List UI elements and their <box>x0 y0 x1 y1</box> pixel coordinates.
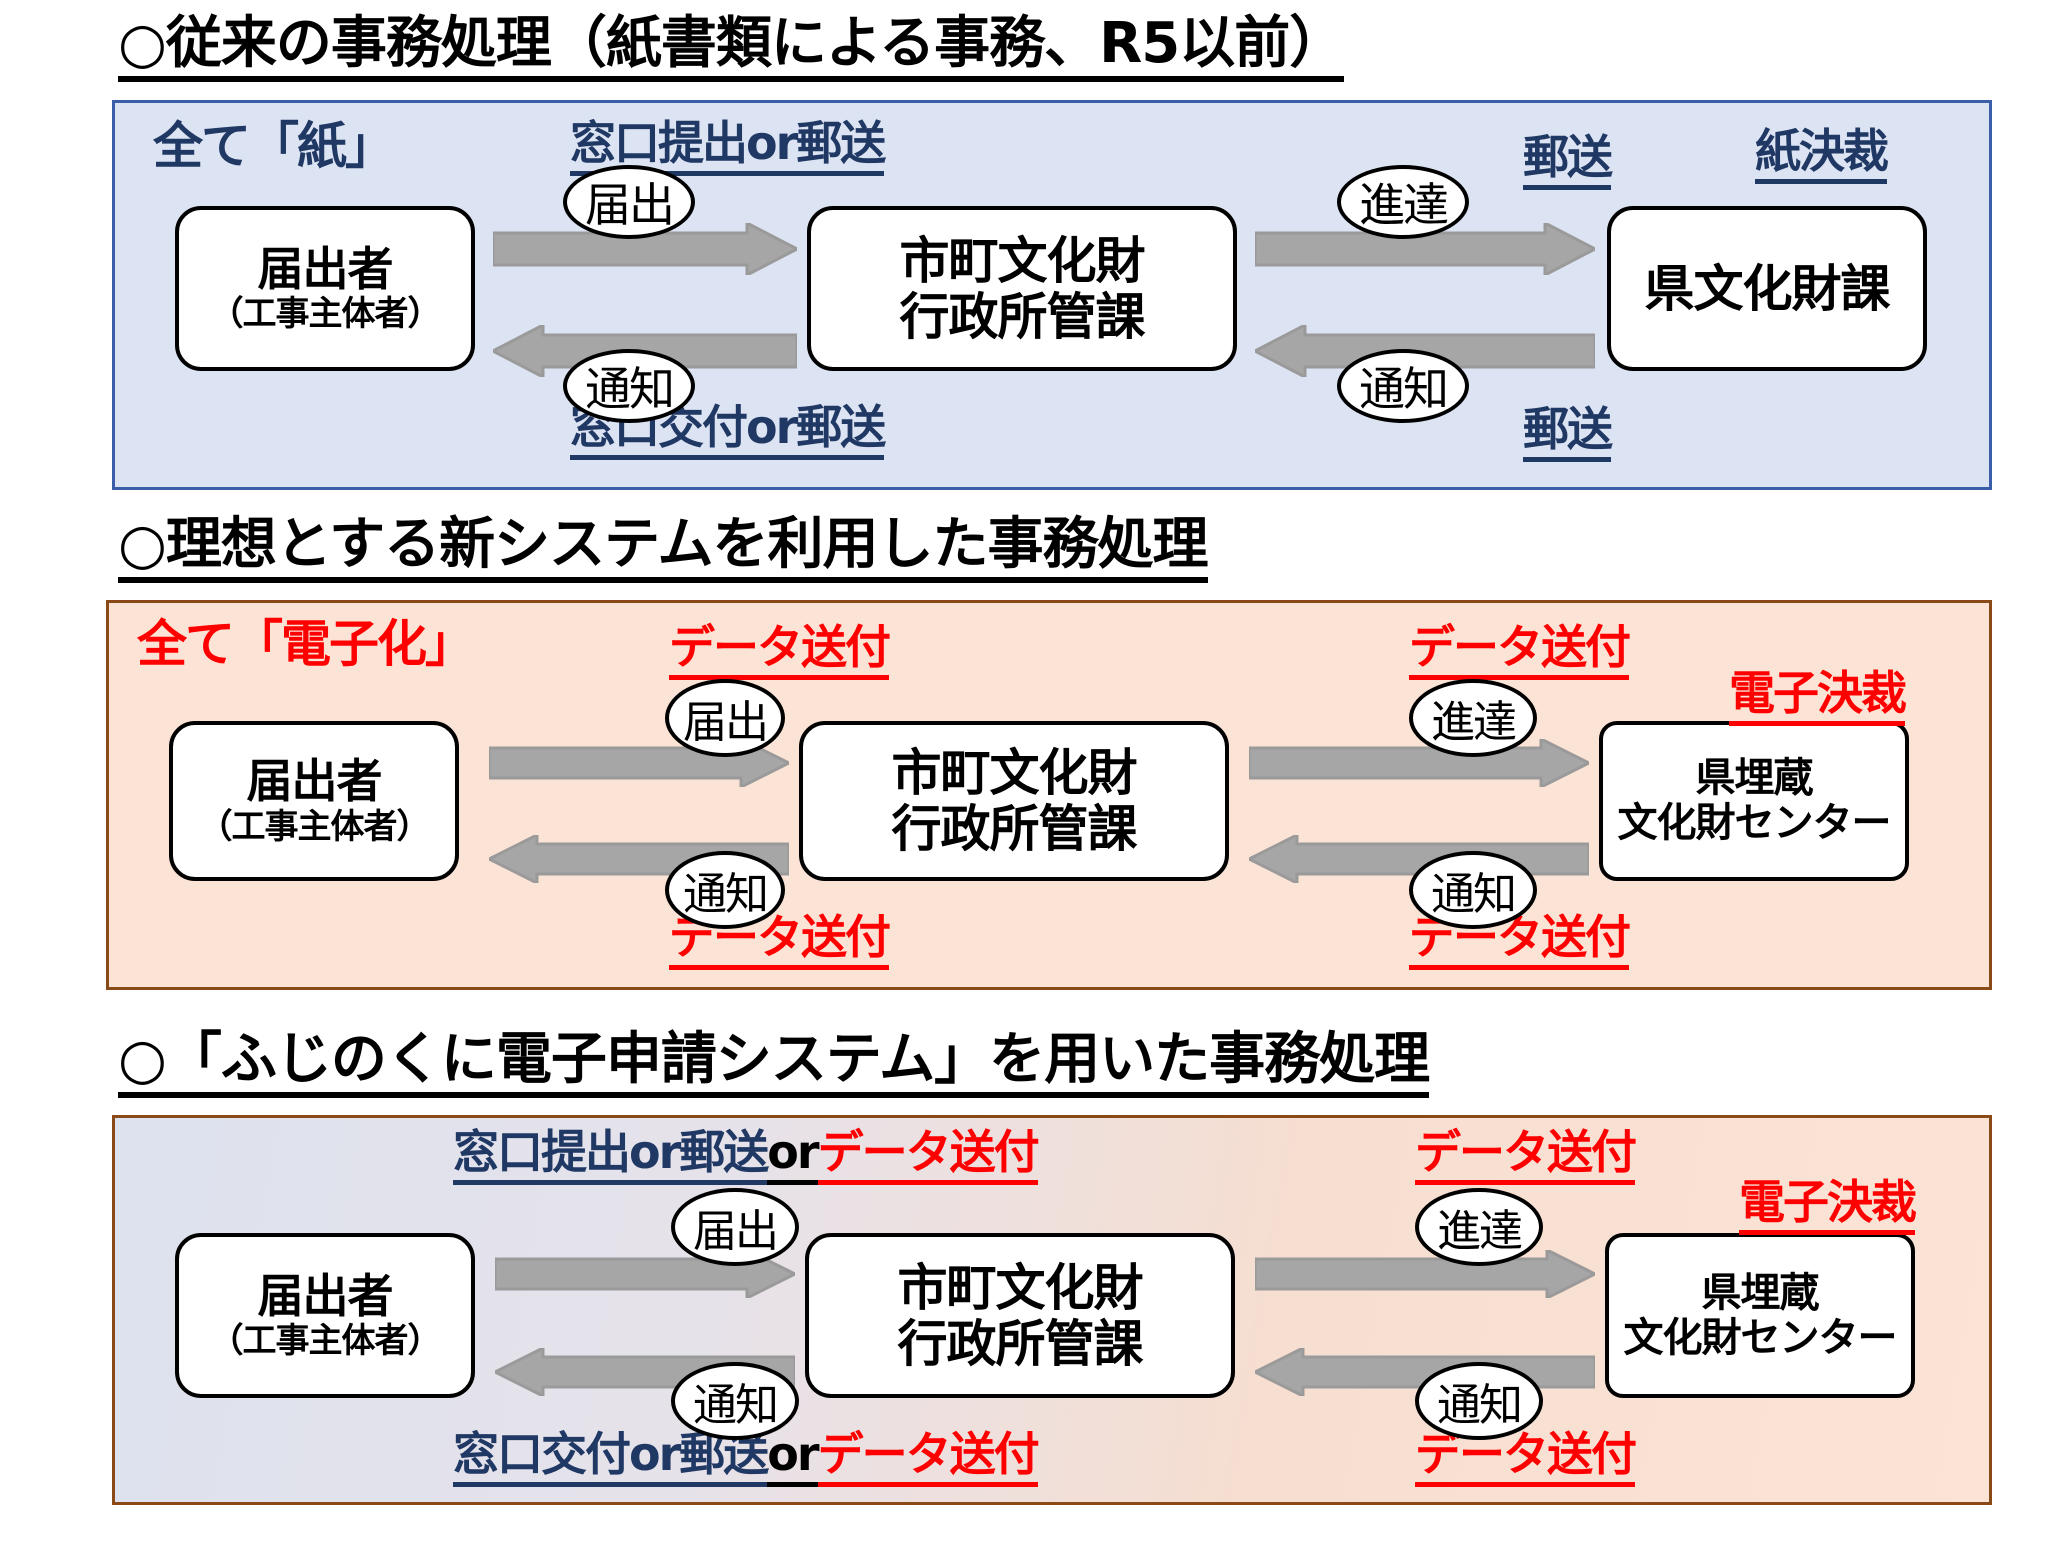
entity-main-label: 届出者 <box>247 756 382 808</box>
entity-sub-label: 行政所管課 <box>898 1316 1143 1372</box>
entity-sub-label: 行政所管課 <box>900 289 1145 345</box>
entity-main-label: 市町文化財 <box>898 1260 1143 1316</box>
entity-box-pref-legacy: 県文化財課 <box>1607 206 1927 371</box>
oval-text: 通知 <box>1359 353 1447 419</box>
oval-label-tsuchi2-fujinokuni: 通知 <box>1415 1362 1543 1440</box>
entity-box-city-legacy: 市町文化財 行政所管課 <box>807 206 1237 371</box>
oval-label-tsuchi-fujinokuni: 通知 <box>671 1362 799 1440</box>
caption-segment: データ送付 <box>818 1125 1038 1185</box>
entity-box-applicant-ideal: 届出者 （工事主体者） <box>169 721 459 881</box>
entity-main-label: 市町文化財 <box>892 745 1137 801</box>
caption-segment: or <box>767 1427 817 1487</box>
section-heading-legacy: ○従来の事務処理（紙書類による事務、R5以前） <box>118 14 1344 82</box>
oval-label-tsuchi2-ideal: 通知 <box>1409 851 1537 929</box>
entity-main-label: 県埋蔵 <box>1702 1271 1819 1316</box>
oval-text: 通知 <box>1437 1369 1521 1433</box>
caption-segment: データ送付 <box>1415 1125 1635 1185</box>
entity-main-label: 届出者 <box>258 1271 393 1323</box>
oval-label-shintatsu-ideal: 進達 <box>1409 679 1537 757</box>
entity-sub-label: （工事主体者） <box>210 1322 441 1360</box>
caption-segment: 紙決裁 <box>1755 124 1887 184</box>
section-heading-fujinokuni: ○「ふじのくに電子申請システム」を用いた事務処理 <box>118 1030 1429 1098</box>
arrow-fujinokuni-right-forward <box>1255 1250 1595 1298</box>
panel-legacy: 全て「紙」 窓口提出or郵送 窓口交付or郵送 郵送 郵送 紙決裁 届出者 （工… <box>112 100 1992 490</box>
oval-label-shintatsu-fujinokuni: 進達 <box>1415 1188 1543 1266</box>
oval-label-tsuchi2-legacy: 通知 <box>1337 349 1469 423</box>
oval-text: 通知 <box>693 1369 777 1433</box>
caption-ideal-right-top: データ送付 <box>1409 621 1629 674</box>
oval-text: 届出 <box>585 169 673 235</box>
caption-segment: or <box>767 1125 817 1185</box>
caption-segment: 電子決裁 <box>1729 666 1905 726</box>
entity-main-label: 県文化財課 <box>1645 261 1890 317</box>
entity-sub-label: 行政所管課 <box>892 801 1137 857</box>
oval-text: 届出 <box>693 1195 777 1259</box>
caption-segment: データ送付 <box>818 1427 1038 1487</box>
caption-segment: データ送付 <box>1409 620 1629 680</box>
caption-segment: データ送付 <box>669 620 889 680</box>
entity-sub-label: （工事主体者） <box>210 295 441 333</box>
oval-label-shintatsu-legacy: 進達 <box>1337 165 1469 239</box>
caption-fujinokuni-right-bottom: データ送付 <box>1415 1428 1635 1481</box>
entity-sub-label: （工事主体者） <box>199 808 430 846</box>
oval-label-todokede-fujinokuni: 届出 <box>671 1188 799 1266</box>
caption-fujinokuni-right-top: データ送付 <box>1415 1126 1635 1179</box>
oval-text: 届出 <box>683 686 767 750</box>
oval-label-tsuchi-ideal: 通知 <box>665 851 785 929</box>
caption-legacy-far-right: 紙決裁 <box>1755 125 1887 178</box>
oval-label-todokede-legacy: 届出 <box>563 165 695 239</box>
caption-segment: 郵送 <box>1523 402 1611 462</box>
caption-fujinokuni-far-right: 電子決裁 <box>1739 1176 1915 1229</box>
entity-sub-label: 文化財センター <box>1618 801 1891 846</box>
oval-label-todokede-ideal: 届出 <box>665 679 785 757</box>
caption-segment: データ送付 <box>1415 1427 1635 1487</box>
caption-ideal-left-top: データ送付 <box>669 621 889 674</box>
oval-label-tsuchi-legacy: 通知 <box>563 349 695 423</box>
caption-legacy-left-top: 窓口提出or郵送 <box>570 117 884 170</box>
entity-main-label: 届出者 <box>258 244 393 296</box>
entity-box-applicant-legacy: 届出者 （工事主体者） <box>175 206 475 371</box>
caption-segment: 郵送 <box>1523 130 1611 190</box>
panel-tag-ideal: 全て「電子化」 <box>137 619 473 669</box>
caption-segment: 電子決裁 <box>1739 1175 1915 1235</box>
caption-legacy-right-top: 郵送 <box>1523 131 1611 184</box>
slide-canvas: ○従来の事務処理（紙書類による事務、R5以前） 全て「紙」 窓口提出or郵送 窓… <box>0 0 2058 1544</box>
oval-text: 通知 <box>683 858 767 922</box>
panel-tag-legacy: 全て「紙」 <box>153 121 393 171</box>
entity-sub-label: 文化財センター <box>1624 1316 1897 1361</box>
panel-ideal: 全て「電子化」 データ送付 データ送付 データ送付 データ送付 電子決裁 届出者… <box>106 600 1992 990</box>
entity-box-city-fujinokuni: 市町文化財 行政所管課 <box>805 1233 1235 1398</box>
entity-box-center-fujinokuni: 県埋蔵 文化財センター <box>1605 1233 1915 1398</box>
panel-fujinokuni: 窓口提出or郵送orデータ送付 窓口交付or郵送orデータ送付 データ送付 デー… <box>112 1115 1992 1505</box>
caption-segment: 窓口提出or郵送 <box>453 1125 767 1185</box>
entity-box-city-ideal: 市町文化財 行政所管課 <box>799 721 1229 881</box>
oval-text: 進達 <box>1437 1195 1521 1259</box>
section-heading-ideal: ○理想とする新システムを利用した事務処理 <box>118 515 1208 583</box>
entity-main-label: 市町文化財 <box>900 233 1145 289</box>
caption-fujinokuni-left-top: 窓口提出or郵送orデータ送付 <box>453 1126 1038 1179</box>
oval-text: 通知 <box>1431 858 1515 922</box>
arrow-ideal-right-forward <box>1249 739 1589 787</box>
entity-box-center-ideal: 県埋蔵 文化財センター <box>1599 721 1909 881</box>
oval-text: 通知 <box>585 353 673 419</box>
caption-ideal-far-right: 電子決裁 <box>1729 667 1905 720</box>
oval-text: 進達 <box>1431 686 1515 750</box>
entity-box-applicant-fujinokuni: 届出者 （工事主体者） <box>175 1233 475 1398</box>
oval-text: 進達 <box>1359 169 1447 235</box>
caption-legacy-right-bottom: 郵送 <box>1523 403 1611 456</box>
entity-main-label: 県埋蔵 <box>1696 756 1813 801</box>
